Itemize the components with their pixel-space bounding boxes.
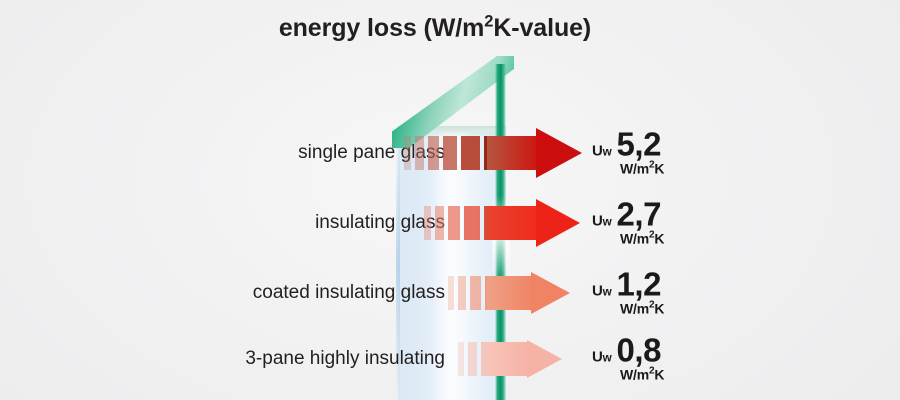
u-value-unit: W/m2K	[620, 301, 664, 317]
uw-u: U	[592, 212, 603, 229]
arrow-stripe	[461, 136, 480, 170]
uw-u: U	[592, 348, 603, 365]
energy-loss-arrow	[448, 276, 570, 310]
glazing-row: coated insulating glassUw1,2W/m2K	[0, 268, 900, 318]
arrow-shaft	[487, 206, 539, 240]
uw-w: w	[603, 351, 612, 364]
arrow-stripe	[470, 276, 481, 310]
unit-prefix: W/m	[620, 301, 649, 317]
uw-u: U	[592, 282, 603, 299]
u-value-number: 1,2	[617, 269, 661, 299]
arrow-head	[527, 340, 562, 378]
u-value-number: 2,7	[617, 199, 661, 229]
u-value-number: 5,2	[617, 129, 661, 159]
unit-prefix: W/m	[620, 231, 649, 247]
title-suffix: K-value)	[493, 14, 591, 42]
title-superscript: 2	[484, 13, 493, 31]
row-label: 3-pane highly insulating	[245, 348, 445, 370]
u-value-block: Uw0,8W/m2K	[592, 335, 664, 382]
arrow-stripe	[458, 276, 466, 310]
uw-w: w	[603, 215, 612, 228]
uw-symbol: Uw	[592, 282, 612, 299]
arrow-head	[531, 272, 570, 314]
arrow-stripe	[448, 206, 460, 240]
uw-symbol: Uw	[592, 212, 612, 229]
unit-suffix: K	[654, 367, 664, 383]
u-value-block: Uw1,2W/m2K	[592, 269, 664, 316]
title-prefix: energy loss (W/m	[279, 14, 484, 42]
arrow-stripe	[468, 342, 477, 376]
arrow-head	[536, 199, 580, 247]
uw-w: w	[603, 145, 612, 158]
uw-symbol: Uw	[592, 142, 612, 159]
uw-w: w	[603, 285, 612, 298]
arrow-stripe	[404, 136, 411, 170]
arrow-stripe	[424, 206, 431, 240]
unit-suffix: K	[654, 231, 664, 247]
unit-prefix: W/m	[620, 161, 649, 177]
u-value-block: Uw2,7W/m2K	[592, 199, 664, 246]
u-value-block: Uw5,2W/m2K	[592, 129, 664, 176]
u-value-number: 0,8	[617, 335, 661, 365]
arrow-stripe	[428, 136, 439, 170]
arrow-stripe	[464, 206, 480, 240]
energy-loss-arrow	[458, 342, 562, 376]
uw-symbol: Uw	[592, 348, 612, 365]
u-value-unit: W/m2K	[620, 367, 664, 383]
arrow-stripe	[443, 136, 457, 170]
energy-loss-infographic: energy loss (W/m2K-value) single pane gl…	[0, 0, 900, 400]
unit-prefix: W/m	[620, 367, 649, 383]
glazing-row: 3-pane highly insulatingUw0,8W/m2K	[0, 334, 900, 384]
arrow-head	[536, 128, 582, 178]
unit-suffix: K	[654, 301, 664, 317]
glazing-row: insulating glassUw2,7W/m2K	[0, 198, 900, 248]
energy-loss-arrow	[424, 206, 580, 240]
arrow-shaft	[487, 276, 534, 310]
row-label: coated insulating glass	[253, 282, 445, 304]
unit-suffix: K	[654, 161, 664, 177]
arrow-stripe	[458, 342, 464, 376]
arrow-stripe	[415, 136, 424, 170]
page-title: energy loss (W/m2K-value)	[0, 14, 870, 43]
arrow-shaft	[487, 342, 530, 376]
glazing-row: single pane glassUw5,2W/m2K	[0, 128, 900, 178]
arrow-stripe	[448, 276, 454, 310]
u-value-unit: W/m2K	[620, 231, 664, 247]
energy-loss-arrow	[404, 136, 582, 170]
uw-u: U	[592, 142, 603, 159]
arrow-shaft	[487, 136, 539, 170]
arrow-stripe	[435, 206, 444, 240]
u-value-unit: W/m2K	[620, 161, 664, 177]
